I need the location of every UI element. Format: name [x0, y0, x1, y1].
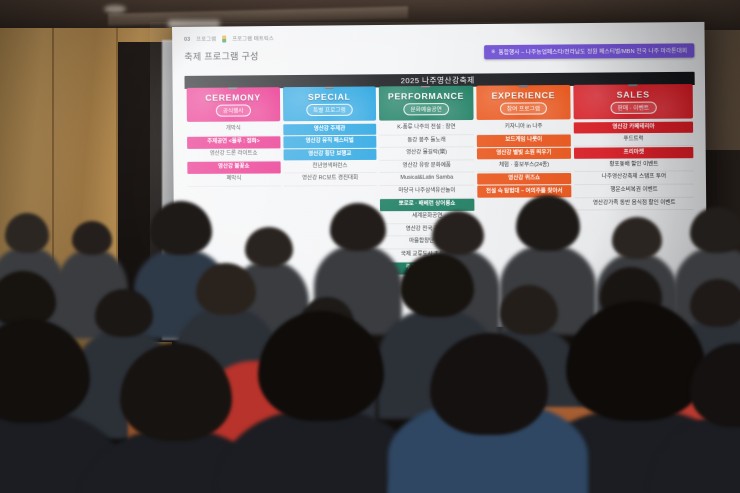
program-list: 키자니아 in 나주보드게임 나룻이영산강 별빛 소원 띄우기체험 · 홍보부스… — [476, 121, 571, 198]
clip-icon — [519, 85, 528, 87]
banner-text: 통합행사 – 나주농업페스타/전라남도 정원 페스티벌/MBN 전국 나주 마라… — [498, 46, 687, 56]
program-item: 영산강 드론 라이트쇼 — [187, 149, 280, 162]
breadcrumb: 03 프로그램 프로그램 매트릭스 — [184, 31, 692, 43]
matrix-column-experience: EXPERIENCE참여 프로그램키자니아 in 나주보드게임 나룻이영산강 별… — [476, 85, 572, 275]
program-item: 천년영색퍼런스 — [283, 161, 377, 174]
program-item: 푸드트럭 — [574, 133, 693, 146]
program-item: 주제공연 <물루 : 정화> — [187, 136, 280, 148]
program-list: K-풍류 나주의 전설 : 창연동강 봉주 들노래영산강 물길락(樂)영산강 유… — [379, 122, 474, 275]
matrix-title: 2025 나주영산강축제 — [401, 75, 475, 87]
breadcrumb-subsection: 프로그램 매트릭스 — [232, 35, 274, 42]
header-texture — [476, 85, 571, 120]
program-item: 영산강가족 동반 음식점 할인 이벤트 — [575, 197, 694, 210]
presentation-slide: 03 프로그램 프로그램 매트릭스 축제 프로그램 구성 ※ 통합행사 – 나주… — [172, 22, 707, 327]
program-item: 영산강 퀴즈쇼 — [477, 173, 572, 185]
program-list: 영산강 카페테리아푸드트럭프리마켓황포돛배 할인 이벤트나주영산강축제 스탬프 … — [574, 121, 694, 211]
program-item: 보드게임 나룻이 — [477, 135, 572, 147]
program-item: 나주영산강축제 스탬프 투어 — [575, 172, 694, 185]
header-texture — [574, 84, 693, 119]
program-item: 뽀로로 · 배베런 상어롱쇼 — [380, 199, 474, 211]
program-item: 마당극 나주삼색유산놀이 — [380, 186, 474, 199]
conference-hall-scene: 03 프로그램 프로그램 매트릭스 축제 프로그램 구성 ※ 통합행사 – 나주… — [0, 0, 740, 493]
program-item: 개막식 — [187, 123, 280, 136]
header-texture — [282, 86, 376, 121]
foreground-shadow — [0, 373, 740, 493]
clip-icon — [325, 86, 334, 88]
program-item: Musical&Latin Samba — [380, 173, 474, 186]
program-item: 황포돛배 할인 이벤트 — [574, 159, 693, 172]
program-item: 영산강 불꽃쇼 — [187, 162, 280, 174]
program-item: 전설 속 탐험대 – 여의주를 찾아서 — [477, 186, 572, 198]
program-item: 체험 · 홍보부스(24종) — [477, 160, 572, 173]
column-header-sales: SALES판매 · 이벤트 — [574, 84, 693, 119]
breadcrumb-number: 03 — [184, 36, 190, 42]
program-item: 영산강 별빛 소원 띄우기 — [477, 147, 572, 159]
program-matrix: 2025 나주영산강축제 CEREMONY공식행사개막식주제공연 <물루 : 정… — [184, 72, 696, 275]
column-header-performance: PERFORMANCE문화예술공연 — [379, 86, 473, 121]
matrix-column-sales: SALES판매 · 이벤트영산강 카페테리아푸드트럭프리마켓황포돛배 할인 이벤… — [574, 84, 695, 274]
breadcrumb-section: 프로그램 — [196, 36, 216, 43]
column-header-special: SPECIAL특별 프로그램 — [282, 86, 376, 121]
program-item: 마을합창단 공연 — [380, 236, 474, 249]
program-item: 영산강 유랑 문화예품 — [380, 160, 474, 173]
asterisk-icon: ※ — [491, 49, 495, 55]
clip-icon — [421, 86, 430, 88]
ceiling-downlight-icon — [104, 5, 126, 13]
matrix-column-ceremony: CEREMONY공식행사개막식주제공연 <물루 : 정화>영산강 드론 라이트쇼… — [187, 87, 282, 275]
projection-screen: 03 프로그램 프로그램 매트릭스 축제 프로그램 구성 ※ 통합행사 – 나주… — [172, 22, 707, 327]
program-item: 행운소비복권 이벤트 — [575, 185, 694, 198]
clip-icon — [628, 84, 637, 87]
program-list: 개막식주제공연 <물루 : 정화>영산강 드론 라이트쇼영산강 불꽃쇼폐막식 — [187, 123, 280, 187]
program-item: 세계문화공연 — [380, 211, 474, 224]
matrix-columns: CEREMONY공식행사개막식주제공연 <물루 : 정화>영산강 드론 라이트쇼… — [185, 84, 697, 275]
program-item: 영산강 전국 가요제 — [380, 224, 474, 237]
header-texture — [187, 87, 280, 122]
program-item: 주 버블쇼 & 마술쇼 — [381, 262, 475, 274]
program-item: 프리마켓 — [574, 147, 693, 159]
integrated-events-banner: ※ 통합행사 – 나주농업페스타/전라남도 정원 페스티벌/MBN 전국 나주 … — [484, 43, 695, 59]
matrix-column-performance: PERFORMANCE문화예술공연K-풍류 나주의 전설 : 창연동강 봉주 들… — [379, 86, 475, 275]
program-item: K-풍류 나주의 전설 : 창연 — [379, 122, 473, 135]
program-item: 영산강 RC보트 경진대회 — [283, 173, 377, 186]
program-item: 국제 교류도시 초청공연 — [381, 249, 475, 262]
program-item: 영산강 주제관 — [283, 123, 377, 135]
program-item: 동강 봉주 들노래 — [379, 135, 473, 148]
program-list: 영산강 주제관영산강 뮤직 페스티벌영산강 횡단 보행교천년영색퍼런스영산강 R… — [283, 123, 377, 187]
program-item: 영산강 뮤직 페스티벌 — [283, 136, 377, 148]
program-item: 영산강 물길락(樂) — [380, 147, 474, 160]
header-texture — [379, 86, 473, 121]
bookmark-icon — [222, 35, 226, 42]
clip-icon — [228, 87, 237, 89]
column-header-ceremony: CEREMONY공식행사 — [187, 87, 280, 122]
program-item: 영산강 카페테리아 — [574, 121, 693, 134]
column-header-experience: EXPERIENCE참여 프로그램 — [476, 85, 571, 120]
program-item: 영산강 횡단 보행교 — [283, 149, 377, 161]
program-item: 폐막식 — [187, 174, 280, 187]
matrix-column-special: SPECIAL특별 프로그램영산강 주제관영산강 뮤직 페스티벌영산강 횡단 보… — [282, 86, 377, 274]
program-item: 키자니아 in 나주 — [476, 121, 571, 134]
